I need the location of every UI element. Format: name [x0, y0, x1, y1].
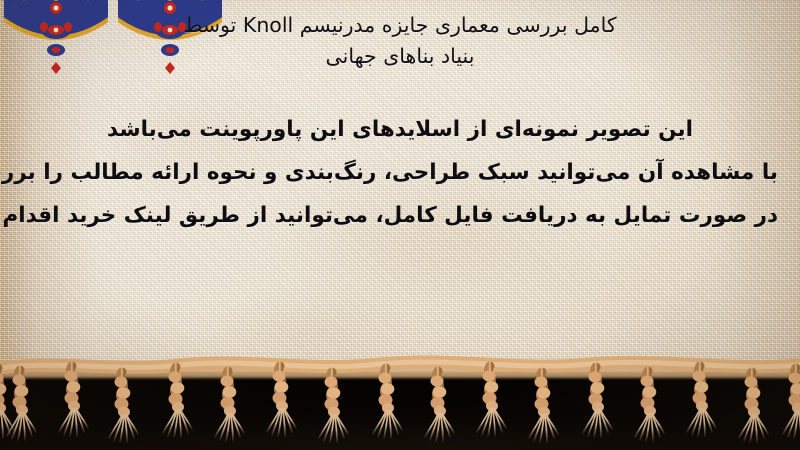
slide-body-text: این تصویر نمونه‌ای از اسلایدهای این پاور…: [0, 108, 800, 237]
body-line-review-design: با مشاهده آن می‌توانید سبک طراحی، رنگ‌بن…: [22, 151, 778, 194]
slide-title: کامل بررسی معماری جایزه مدرنیسم Knoll تو…: [0, 10, 800, 72]
body-line-sample-notice: این تصویر نمونه‌ای از اسلایدهای این پاور…: [22, 108, 778, 151]
body-line-purchase-link: در صورت تمایل به دریافت فایل کامل، می‌تو…: [22, 194, 778, 237]
slide-title-line-1: کامل بررسی معماری جایزه مدرنیسم Knoll تو…: [183, 13, 616, 37]
presentation-slide: کامل بررسی معماری جایزه مدرنیسم Knoll تو…: [0, 0, 800, 450]
slide-title-line-2: بنیاد بناهای جهانی: [18, 41, 782, 72]
black-lower-band: [0, 372, 800, 450]
carpet-selvedge-edge: [0, 358, 800, 378]
slide-text-layer: کامل بررسی معماری جایزه مدرنیسم Knoll تو…: [0, 0, 800, 392]
